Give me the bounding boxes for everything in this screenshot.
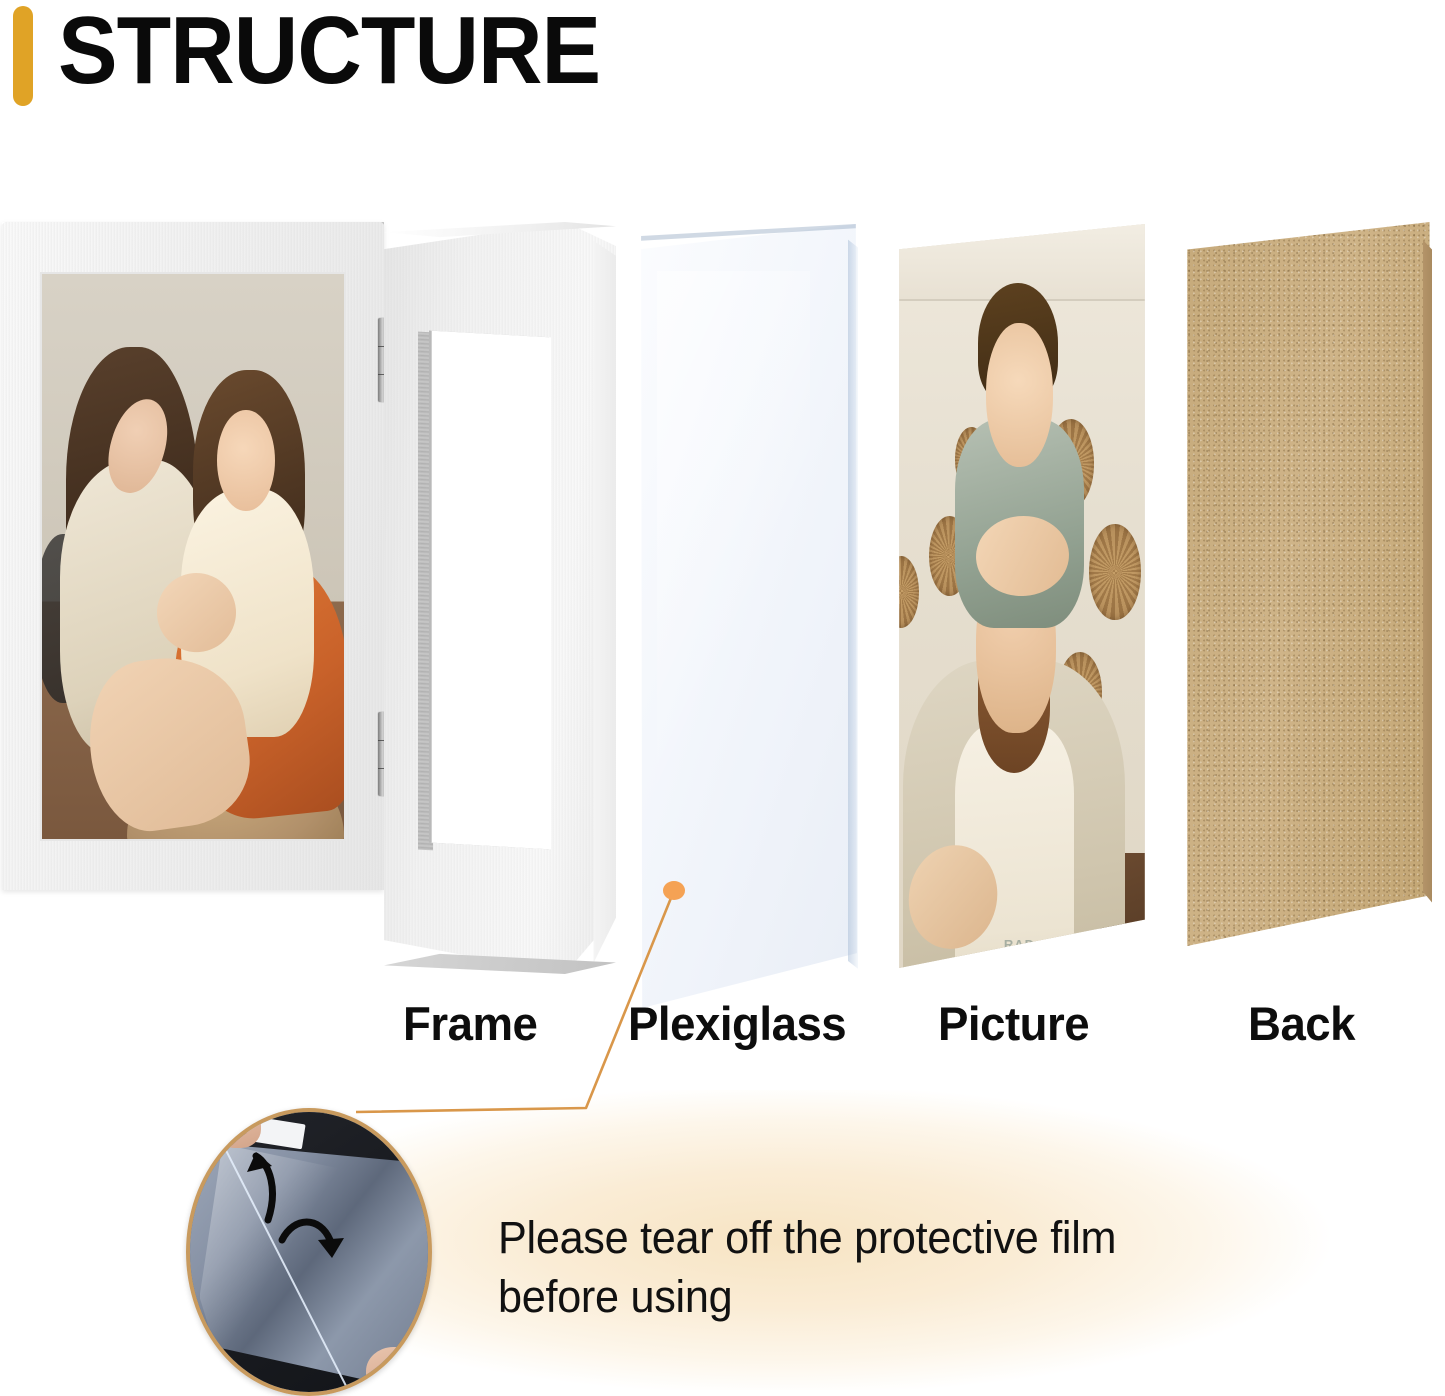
label-back: Back [1248, 995, 1355, 1053]
picture-child-head-shape [986, 323, 1053, 468]
peel-down-arrow [282, 1222, 330, 1240]
rattan-basket-icon [898, 556, 919, 628]
peel-down-arrow-head [318, 1238, 344, 1258]
picture-sheet: RAD like DAD [898, 224, 1146, 968]
plexiglass-callout-dot [663, 881, 685, 900]
label-frame: Frame [403, 995, 537, 1053]
part-back-board [1186, 222, 1432, 946]
label-picture: Picture [938, 995, 1089, 1053]
peel-film-photo [186, 1108, 432, 1396]
plexiglass-gloss-highlight [657, 271, 810, 945]
picture-photo-image: RAD like DAD [898, 224, 1146, 968]
part-frame-closed [2, 222, 384, 890]
exploded-view-diagram: RAD like DAD [0, 0, 1445, 1010]
photo-girl-face-shape [217, 410, 274, 512]
picture-shirt-text: RAD like DAD [968, 937, 1071, 968]
rattan-basket-icon [1089, 524, 1141, 620]
frame-photo-image [42, 274, 344, 839]
part-picture: RAD like DAD [898, 224, 1146, 968]
back-board-sheet [1186, 222, 1432, 946]
part-frame-open [384, 222, 616, 974]
frame-photo-opening [42, 274, 344, 839]
plexiglass-right-edge [848, 224, 858, 1008]
label-plexiglass: Plexiglass [628, 995, 846, 1053]
back-board-right-edge [1423, 222, 1432, 946]
part-labels-row: Frame Plexiglass Picture Back [0, 995, 1445, 1065]
protective-film-note: Please tear off the protective film befo… [498, 1208, 1247, 1326]
open-frame-window [431, 331, 551, 850]
